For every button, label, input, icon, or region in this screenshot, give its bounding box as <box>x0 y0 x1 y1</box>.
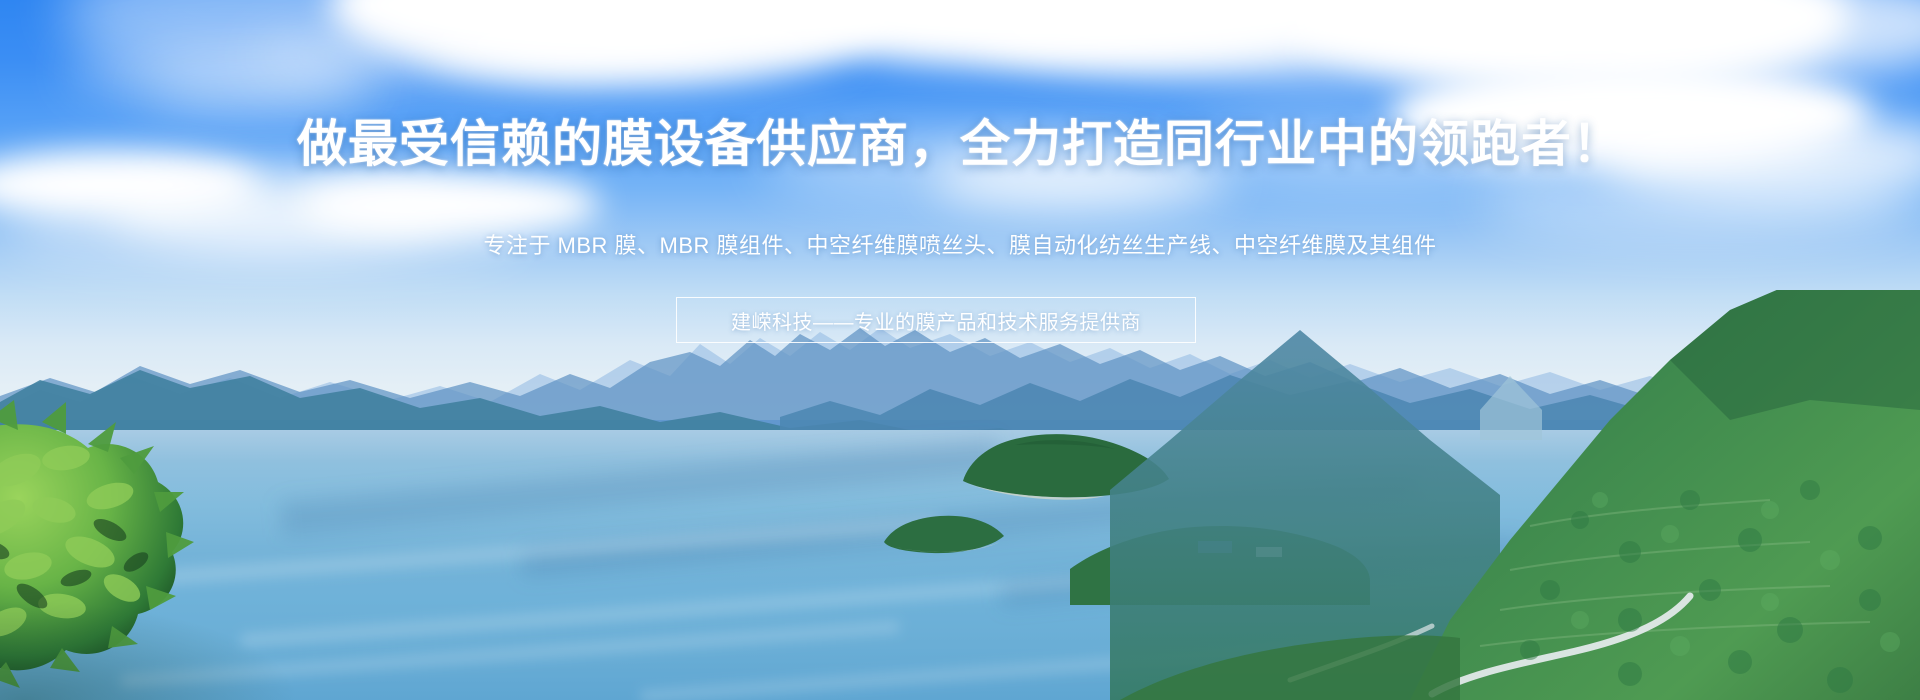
hero-banner: 做最受信赖的膜设备供应商，全力打造同行业中的领跑者！ 专注于 MBR 膜、MBR… <box>0 0 1920 700</box>
banner-headline: 做最受信赖的膜设备供应商，全力打造同行业中的领跑者！ <box>0 118 1920 171</box>
tagline-box: 建嵘科技——专业的膜产品和技术服务提供商 <box>676 297 1196 343</box>
banner-text-overlay: 做最受信赖的膜设备供应商，全力打造同行业中的领跑者！ 专注于 MBR 膜、MBR… <box>0 0 1920 700</box>
banner-subtitle: 专注于 MBR 膜、MBR 膜组件、中空纤维膜喷丝头、膜自动化纺丝生产线、中空纤… <box>0 228 1920 260</box>
tagline-text: 建嵘科技——专业的膜产品和技术服务提供商 <box>731 306 1141 335</box>
